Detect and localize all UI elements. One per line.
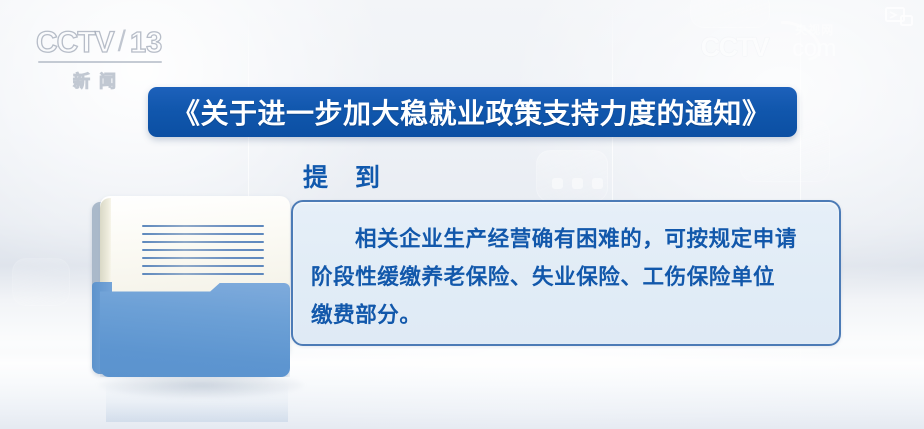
quote-line-1: 相关企业生产经营确有困难的，可按规定申请: [311, 220, 817, 258]
document-folder-icon: [92, 196, 297, 381]
mention-label: 提 到: [303, 158, 390, 194]
logo-cctv-text: CCTV: [36, 28, 114, 58]
background-ghost-card-6: [12, 258, 70, 306]
quote-content-box: 相关企业生产经营确有困难的，可按规定申请 阶段性缓缴养老保险、失业保险、工伤保险…: [291, 200, 841, 346]
quote-line-2: 阶段性缓缴养老保险、失业保险、工伤保险单位: [311, 258, 817, 296]
logo-subtitle: 新闻: [36, 67, 162, 92]
folder-reflection: [106, 378, 288, 422]
paper-text-lines: [142, 225, 264, 281]
quote-line-3: 缴费部分。: [311, 296, 817, 334]
folder-front-panel: [100, 283, 290, 377]
headline-banner: 《关于进一步加大稳就业政策支持力度的通知》: [148, 87, 797, 137]
watermark-domain: com: [792, 35, 836, 62]
background-ghost-card-1: [536, 150, 608, 202]
logo-channel-number: 13: [130, 29, 162, 58]
watermark-cn-label: 央视网: [795, 24, 834, 36]
background-ghost-card-2: [690, 0, 770, 28]
background-ghost-dots: [552, 178, 603, 189]
broadcast-screen: CCTV / 13 新闻 CCTV 央视网 com 《关于进一步加大稳就业政策支…: [0, 0, 924, 429]
page-title: 《关于进一步加大稳就业政策支持力度的通知》: [172, 92, 771, 132]
screen-layout-icon: [884, 6, 914, 28]
cctv-com-watermark: CCTV 央视网 com: [701, 34, 836, 61]
logo-slash: /: [118, 27, 126, 57]
watermark-brand: CCTV: [701, 34, 769, 61]
logo-divider-rule: [38, 61, 162, 63]
watermark-right-group: 央视网 com: [792, 37, 836, 61]
cctv13-news-logo: CCTV / 13 新闻: [36, 28, 162, 92]
watermark-row: CCTV 央视网 com: [701, 34, 836, 61]
logo-top-row: CCTV / 13: [36, 28, 162, 58]
